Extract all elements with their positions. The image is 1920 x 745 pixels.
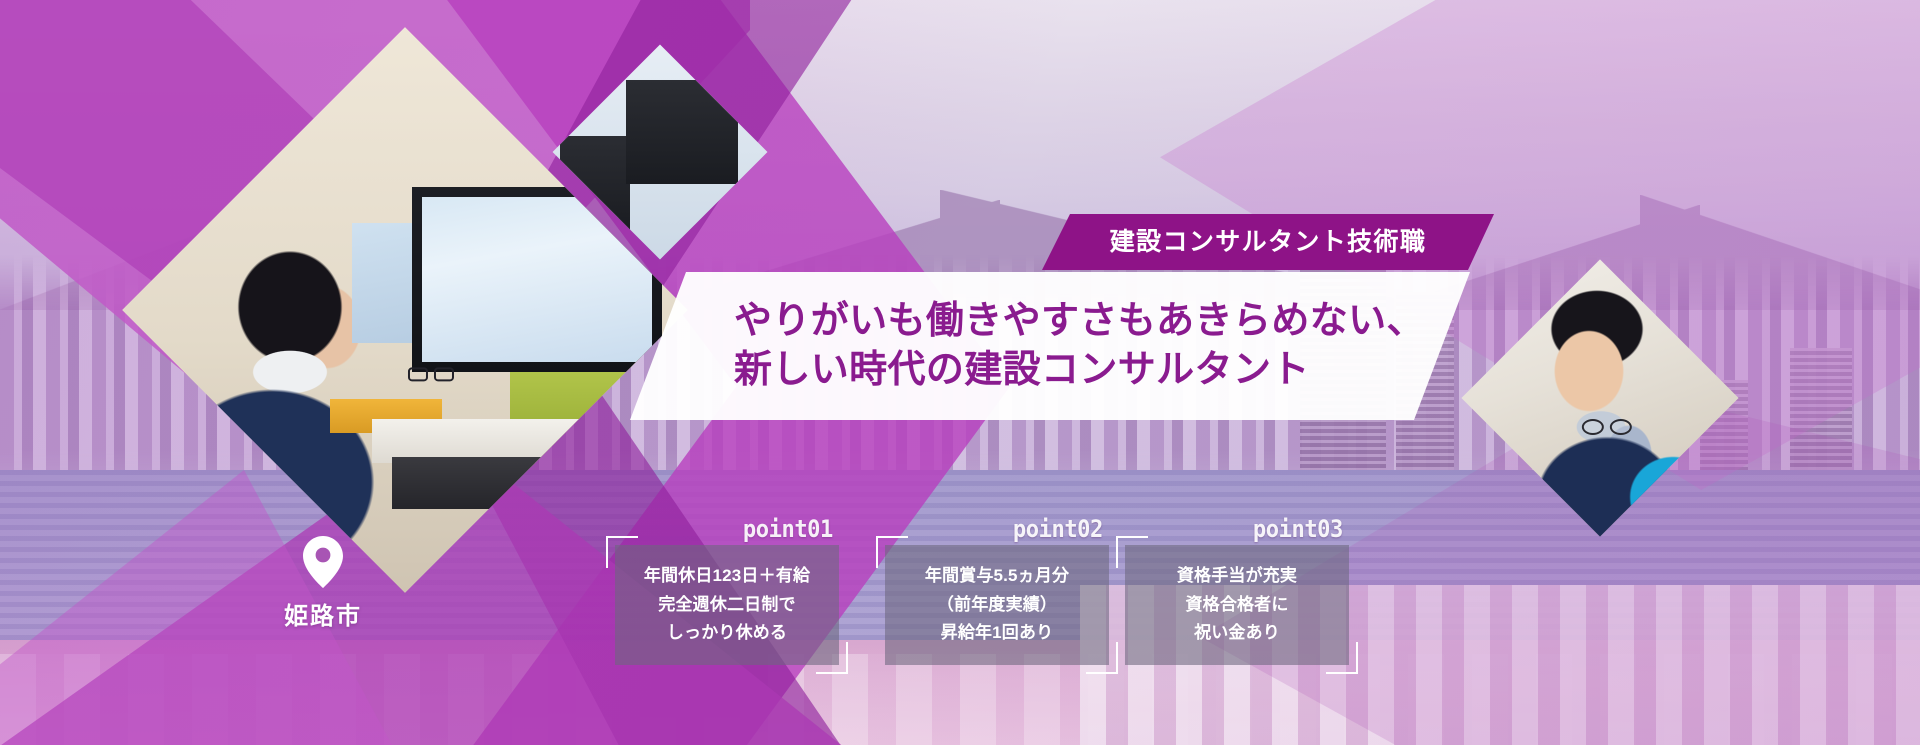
point-card-02-label: point02 — [1013, 515, 1103, 543]
point-card-01-label: point01 — [743, 515, 833, 543]
point-card-03-line-2: 資格合格者に — [1185, 593, 1288, 618]
point-card-02-line-2: （前年度実績） — [937, 593, 1057, 618]
point-card-02: point02 年間賞与5.5ヵ月分 （前年度実績） 昇給年1回あり — [885, 545, 1109, 665]
glasses-icon — [408, 367, 460, 381]
headline-banner: やりがいも働きやすさもあきらめない、 新しい時代の建設コンサルタント — [630, 272, 1470, 420]
hero-banner: 建設コンサルタント技術職 やりがいも働きやすさもあきらめない、 新しい時代の建設… — [0, 0, 1920, 745]
point-card-01-line-1: 年間休日123日＋有給 — [644, 564, 810, 589]
location-city-label: 姫路市 — [284, 596, 362, 631]
map-pin-icon — [303, 536, 343, 588]
glasses-icon — [1582, 419, 1648, 435]
job-category-tag-label: 建設コンサルタント技術職 — [1110, 230, 1427, 255]
point-card-03-line-1: 資格手当が充実 — [1177, 564, 1297, 589]
point-card-02-line-3: 昇給年1回あり — [941, 621, 1054, 646]
point-card-03-box: 資格手当が充実 資格合格者に 祝い金あり — [1125, 545, 1349, 665]
point-card-01-line-3: しっかり休める — [667, 621, 787, 646]
point-card-01-box: 年間休日123日＋有給 完全週休二日制で しっかり休める — [615, 545, 839, 665]
point-card-03-line-3: 祝い金あり — [1194, 621, 1280, 646]
location-block: 姫路市 — [258, 536, 388, 631]
point-card-01-line-2: 完全週休二日制で — [658, 593, 795, 618]
point-card-03: point03 資格手当が充実 資格合格者に 祝い金あり — [1125, 545, 1349, 665]
point-card-02-box: 年間賞与5.5ヵ月分 （前年度実績） 昇給年1回あり — [885, 545, 1109, 665]
headline-line-2: 新しい時代の建設コンサルタント — [734, 346, 1470, 395]
headline-line-1: やりがいも働きやすさもあきらめない、 — [734, 297, 1470, 346]
job-category-tag: 建設コンサルタント技術職 — [1042, 214, 1494, 270]
point-card-03-label: point03 — [1253, 515, 1343, 543]
point-card-02-line-1: 年間賞与5.5ヵ月分 — [925, 564, 1069, 589]
point-card-01: point01 年間休日123日＋有給 完全週休二日制で しっかり休める — [615, 545, 839, 665]
